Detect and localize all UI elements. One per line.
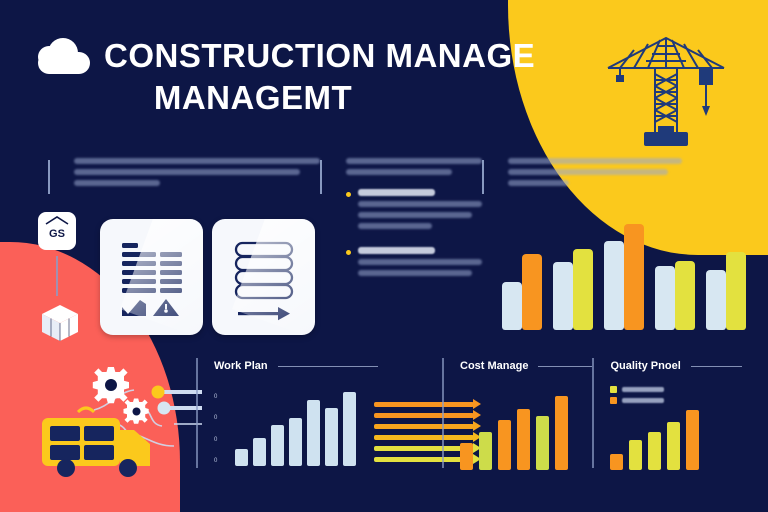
bar bbox=[648, 432, 661, 470]
bar bbox=[479, 432, 492, 470]
body-text-line bbox=[358, 223, 432, 229]
bar bbox=[325, 408, 338, 466]
bar-group bbox=[655, 261, 695, 330]
body-text-line bbox=[346, 169, 452, 175]
work-plan-y-axis: 0000 bbox=[214, 394, 217, 466]
section-title-work-plan: Work Plan bbox=[214, 360, 268, 372]
section-title-cost-manage: Cost Manage bbox=[460, 360, 528, 372]
section-quality-panel: Quality Pnoel bbox=[592, 358, 742, 488]
bar bbox=[235, 449, 248, 466]
body-text-line bbox=[358, 212, 472, 218]
list-item: Configuration Coordinate resource cost b… bbox=[346, 189, 482, 234]
section-divider bbox=[592, 358, 594, 468]
body-text-line bbox=[346, 158, 482, 164]
bar bbox=[555, 396, 568, 470]
page-subtitle: MANAGEMT bbox=[38, 80, 468, 116]
home-icon[interactable]: GS bbox=[38, 212, 76, 250]
node-primary-icon bbox=[152, 386, 165, 399]
bullet-dot-icon bbox=[346, 250, 351, 255]
feature-cards bbox=[100, 219, 315, 335]
intro-tracking-text: Track and control site tasks and progres… bbox=[508, 191, 509, 192]
truck-cluster bbox=[22, 362, 202, 487]
legend-item bbox=[610, 397, 742, 404]
column-divider bbox=[320, 160, 322, 194]
cost-manage-chart bbox=[460, 390, 592, 470]
bullet-1-body: Coordinate resource cost baselines and o… bbox=[358, 234, 359, 235]
bar bbox=[343, 392, 356, 466]
intro-column-contractors: Why contractors rely on scheduling insig… bbox=[320, 158, 482, 294]
legend-label bbox=[622, 398, 664, 403]
section-rule bbox=[538, 366, 592, 367]
page-title: CONSTRUCTION MANAGE bbox=[104, 39, 535, 74]
bar-actual bbox=[726, 252, 746, 330]
legend-swatch bbox=[610, 386, 617, 393]
bar-actual bbox=[624, 224, 644, 330]
axis-tick: 0 bbox=[214, 415, 217, 421]
bar bbox=[667, 422, 680, 470]
axis-tick: 0 bbox=[214, 437, 217, 443]
legend-label bbox=[622, 387, 664, 392]
bar bbox=[610, 454, 623, 470]
bar-actual bbox=[573, 249, 593, 330]
bar-planned bbox=[553, 262, 573, 330]
bar-planned bbox=[502, 282, 522, 330]
bar bbox=[271, 425, 284, 466]
body-text-line bbox=[74, 169, 300, 175]
axis-tick: 0 bbox=[214, 458, 217, 464]
work-plan-chart bbox=[235, 388, 356, 466]
body-text-line bbox=[358, 201, 482, 207]
home-icon-label: GS bbox=[49, 228, 65, 240]
quality-panel-legend bbox=[610, 386, 742, 404]
column-divider bbox=[482, 160, 484, 194]
section-divider bbox=[196, 358, 198, 468]
section-title-quality-panel: Quality Pnoel bbox=[610, 360, 680, 372]
bar-actual bbox=[522, 254, 542, 330]
node-secondary-icon bbox=[158, 402, 171, 415]
body-text-line bbox=[74, 158, 320, 164]
bar-planned bbox=[706, 270, 726, 330]
bar-group bbox=[604, 224, 644, 330]
bar bbox=[498, 420, 511, 470]
axis-tick: 0 bbox=[214, 394, 217, 400]
bar-planned bbox=[655, 266, 675, 330]
bar bbox=[536, 416, 549, 470]
quality-panel-chart bbox=[610, 408, 742, 470]
bar-group bbox=[553, 249, 593, 330]
page-header: CONSTRUCTION MANAGE MANAGEMT bbox=[38, 38, 558, 116]
bullet-1-title: Configuration bbox=[358, 234, 359, 235]
bullet-title bbox=[358, 247, 435, 254]
bullet-dot-icon bbox=[346, 192, 351, 197]
body-text-line bbox=[508, 180, 569, 186]
bar-actual bbox=[675, 261, 695, 330]
bar bbox=[686, 410, 699, 470]
intro-overview-text: Project overview summary text bbox=[74, 191, 75, 192]
rail-connector-line bbox=[56, 256, 58, 296]
hero-chart bbox=[502, 224, 717, 330]
left-rail: GS bbox=[38, 212, 78, 349]
list-item: Cost Inventory Control Changes Track mat… bbox=[346, 247, 482, 281]
bar bbox=[307, 400, 320, 466]
bar bbox=[460, 443, 473, 470]
infographic-canvas: CONSTRUCTION MANAGE MANAGEMT Project ove… bbox=[0, 0, 768, 512]
bar bbox=[289, 418, 302, 466]
section-rule bbox=[691, 366, 743, 367]
bar-planned bbox=[604, 241, 624, 330]
bar bbox=[629, 440, 642, 470]
section-work-plan: Work Plan 0000 bbox=[196, 358, 442, 488]
card-layers[interactable] bbox=[212, 219, 315, 335]
bullet-list: Configuration Coordinate resource cost b… bbox=[346, 189, 482, 281]
body-text-line bbox=[74, 180, 160, 186]
bar-group bbox=[706, 252, 746, 330]
legend-swatch bbox=[610, 397, 617, 404]
bar bbox=[253, 438, 266, 466]
body-text-line bbox=[358, 259, 482, 265]
body-text-line bbox=[508, 169, 668, 175]
card-checklist[interactable] bbox=[100, 219, 203, 335]
cube-icon[interactable] bbox=[38, 302, 82, 344]
bullet-title bbox=[358, 189, 435, 196]
section-cost-manage: Cost Manage bbox=[442, 358, 592, 488]
bottom-sections: Work Plan 0000 Cost Manage Quality Pnoel bbox=[196, 358, 740, 488]
section-divider bbox=[442, 358, 444, 468]
column-divider bbox=[48, 160, 50, 194]
tower-crane-icon bbox=[600, 28, 732, 150]
roof-shape-icon bbox=[45, 216, 69, 225]
legend-item bbox=[610, 386, 742, 393]
cloud-icon bbox=[38, 38, 90, 74]
bullet-2-body: Track material consumption and report ag… bbox=[358, 281, 359, 282]
bar-group bbox=[502, 254, 542, 330]
intro-contractors-text: Why contractors rely on scheduling insig… bbox=[346, 180, 347, 181]
body-text-line bbox=[358, 270, 472, 276]
bar bbox=[517, 409, 530, 470]
body-text-line bbox=[508, 158, 682, 164]
bullet-2-title: Cost Inventory Control Changes bbox=[358, 281, 359, 282]
section-rule bbox=[278, 366, 378, 367]
